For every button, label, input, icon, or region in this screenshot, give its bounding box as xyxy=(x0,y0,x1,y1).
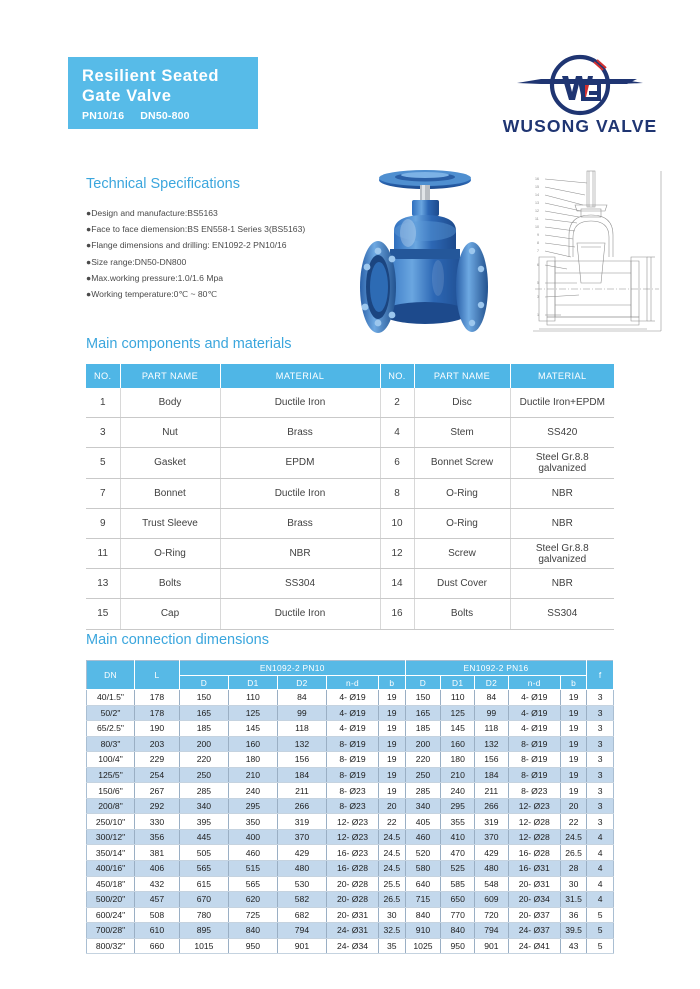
dimensions-cell: 12- Ø23 xyxy=(326,829,378,845)
dimensions-cell: 118 xyxy=(475,721,509,737)
col-pn16-b: b xyxy=(560,676,587,690)
dimensions-cell: 840 xyxy=(441,923,475,939)
dimensions-cell: 220 xyxy=(405,752,441,768)
product-title-line2: Gate Valve xyxy=(82,86,258,106)
dimensions-cell: 370 xyxy=(475,829,509,845)
components-cell: 2 xyxy=(380,388,414,418)
dimensions-cell: 794 xyxy=(475,923,509,939)
dimensions-cell: 16- Ø28 xyxy=(326,861,378,877)
dimensions-cell: 480 xyxy=(277,861,326,877)
dimensions-cell: 19 xyxy=(560,752,587,768)
dimensions-cell: 8- Ø23 xyxy=(326,798,378,814)
dimensions-cell: 370 xyxy=(277,829,326,845)
dimensions-cell: 8- Ø19 xyxy=(326,767,378,783)
dimensions-cell: 84 xyxy=(475,690,509,706)
dimensions-cell: 3 xyxy=(587,736,614,752)
table-row: 15CapDuctile Iron16BoltsSS304 xyxy=(86,599,614,629)
dimensions-cell: 180 xyxy=(441,752,475,768)
svg-text:15: 15 xyxy=(535,185,539,189)
dimensions-cell: 615 xyxy=(179,876,228,892)
dimensions-cell: 525 xyxy=(441,861,475,877)
table-row: 5GasketEPDM6Bonnet ScrewSteel Gr.8.8 gal… xyxy=(86,448,614,478)
svg-text:7: 7 xyxy=(537,249,539,253)
table-row: 600/24"50878072568220- Ø313084077072020-… xyxy=(87,907,614,923)
dimensions-cell: 640 xyxy=(405,876,441,892)
dimensions-cell: 295 xyxy=(441,798,475,814)
components-cell: 14 xyxy=(380,569,414,599)
table-row: 150/6"2672852402118- Ø23192852402118- Ø2… xyxy=(87,783,614,799)
dimensions-cell: 20- Ø28 xyxy=(326,892,378,908)
table-row: 350/14"38150546042916- Ø2324.55204704291… xyxy=(87,845,614,861)
components-cell: 5 xyxy=(86,448,120,478)
table-row: 800/32"660101595090124- Ø343510259509012… xyxy=(87,938,614,954)
dimensions-cell: 39.5 xyxy=(560,923,587,939)
dimensions-cell: 185 xyxy=(179,721,228,737)
dimensions-cell: 99 xyxy=(475,705,509,721)
dimensions-cell: 40/1.5" xyxy=(87,690,135,706)
product-image-area: 161514 131211 1098 765 31 xyxy=(338,163,678,338)
dimensions-cell: 254 xyxy=(134,767,179,783)
dimensions-cell: 180 xyxy=(228,752,277,768)
components-cell: Ductile Iron xyxy=(220,388,380,418)
dimensions-cell: 110 xyxy=(441,690,475,706)
dimensions-cell: 8- Ø19 xyxy=(508,767,560,783)
table-row: 400/16"40656551548016- Ø2824.55805254801… xyxy=(87,861,614,877)
table-row: 100/4"2292201801568- Ø19192201801568- Ø1… xyxy=(87,752,614,768)
page-header: Resilient Seated Gate Valve PN10/16DN50-… xyxy=(0,0,700,150)
components-cell: SS304 xyxy=(220,569,380,599)
dimensions-cell: 4 xyxy=(587,845,614,861)
dimensions-cell: 725 xyxy=(228,907,277,923)
col-l: L xyxy=(134,661,179,690)
dimensions-cell: 200 xyxy=(405,736,441,752)
product-title-block: Resilient Seated Gate Valve PN10/16DN50-… xyxy=(68,57,258,129)
dimensions-cell: 350/14" xyxy=(87,845,135,861)
spec-text: Max.working pressure:1.0/1.6 Mpa xyxy=(91,273,223,283)
dimensions-cell: 184 xyxy=(475,767,509,783)
components-cell: 9 xyxy=(86,508,120,538)
dimensions-cell: 25.5 xyxy=(379,876,406,892)
dimensions-cell: 26.5 xyxy=(560,845,587,861)
components-table-header-row: NO. PART NAME MATERIAL NO. PART NAME MAT… xyxy=(86,364,614,388)
dimensions-cell: 901 xyxy=(277,938,326,954)
dimensions-cell: 211 xyxy=(277,783,326,799)
dimensions-cell: 285 xyxy=(405,783,441,799)
dimensions-cell: 770 xyxy=(441,907,475,923)
dimensions-cell: 5 xyxy=(587,938,614,954)
components-cell: Disc xyxy=(414,388,510,418)
col-pn10-d1: D1 xyxy=(228,676,277,690)
dimensions-cell: 20- Ø34 xyxy=(508,892,560,908)
svg-text:11: 11 xyxy=(535,217,539,221)
col-partname-2: PART NAME xyxy=(414,364,510,388)
dimensions-cell: 156 xyxy=(277,752,326,768)
col-pn10-nd: n-d xyxy=(326,676,378,690)
dimensions-cell: 19 xyxy=(379,783,406,799)
wusong-circle-logo-icon xyxy=(515,54,645,116)
components-cell: 8 xyxy=(380,478,414,508)
dimensions-cell: 156 xyxy=(475,752,509,768)
dimensions-cell: 24- Ø37 xyxy=(508,923,560,939)
dimensions-cell: 80/3" xyxy=(87,736,135,752)
components-cell: Trust Sleeve xyxy=(120,508,220,538)
dimensions-cell: 340 xyxy=(179,798,228,814)
dimensions-cell: 266 xyxy=(277,798,326,814)
brand-name: WUSONG VALVE xyxy=(487,116,673,137)
dimensions-cell: 24.5 xyxy=(560,829,587,845)
dimensions-cell: 4- Ø19 xyxy=(508,690,560,706)
components-cell: Steel Gr.8.8 galvanized xyxy=(510,448,614,478)
dimensions-cell: 715 xyxy=(405,892,441,908)
section-heading-technical: Technical Specifications xyxy=(86,176,240,192)
dimensions-cell: 125/5" xyxy=(87,767,135,783)
dimensions-cell: 43 xyxy=(560,938,587,954)
dimensions-cell: 165 xyxy=(179,705,228,721)
dimensions-cell: 582 xyxy=(277,892,326,908)
dimensions-cell: 4 xyxy=(587,829,614,845)
dimensions-cell: 84 xyxy=(277,690,326,706)
table-row: 40/1.5"178150110844- Ø1919150110844- Ø19… xyxy=(87,690,614,706)
dimensions-cell: 548 xyxy=(475,876,509,892)
dimensions-cell: 200 xyxy=(179,736,228,752)
dimensions-cell: 600/24" xyxy=(87,907,135,923)
col-pn16-nd: n-d xyxy=(508,676,560,690)
spec-text: Working temperature:0℃ ~ 80℃ xyxy=(91,289,217,299)
components-cell: Bonnet xyxy=(120,478,220,508)
dimensions-cell: 350 xyxy=(228,814,277,830)
svg-text:5: 5 xyxy=(537,281,539,285)
dimensions-cell: 24.5 xyxy=(379,829,406,845)
dimensions-cell: 266 xyxy=(475,798,509,814)
components-cell: O-Ring xyxy=(414,508,510,538)
components-cell: Brass xyxy=(220,418,380,448)
dimensions-cell: 19 xyxy=(560,690,587,706)
dimensions-cell: 19 xyxy=(560,721,587,737)
dimensions-cell: 35 xyxy=(379,938,406,954)
dimensions-cell: 100/4" xyxy=(87,752,135,768)
components-table: NO. PART NAME MATERIAL NO. PART NAME MAT… xyxy=(86,364,614,630)
table-row: 13BoltsSS30414Dust CoverNBR xyxy=(86,569,614,599)
dimensions-cell: 16- Ø31 xyxy=(508,861,560,877)
col-pn16-d1: D1 xyxy=(441,676,475,690)
dimensions-cell: 99 xyxy=(277,705,326,721)
dimensions-cell: 8- Ø23 xyxy=(508,783,560,799)
table-row: 300/12"35644540037012- Ø2324.54604103701… xyxy=(87,829,614,845)
dimensions-cell: 4- Ø19 xyxy=(326,690,378,706)
dimensions-cell: 4- Ø19 xyxy=(508,705,560,721)
col-pn16-d2: D2 xyxy=(475,676,509,690)
components-cell: Nut xyxy=(120,418,220,448)
dimensions-cell: 800/32" xyxy=(87,938,135,954)
dimensions-cell: 340 xyxy=(405,798,441,814)
dimensions-cell: 24- Ø34 xyxy=(326,938,378,954)
table-row: 125/5"2542502101848- Ø19192502101848- Ø1… xyxy=(87,767,614,783)
dimensions-cell: 530 xyxy=(277,876,326,892)
svg-text:1: 1 xyxy=(537,313,539,317)
components-cell: 13 xyxy=(86,569,120,599)
section-heading-components: Main components and materials xyxy=(86,336,292,352)
dimensions-cell: 190 xyxy=(134,721,179,737)
dimensions-cell: 356 xyxy=(134,829,179,845)
components-cell: 12 xyxy=(380,538,414,568)
group-pn10: EN1092-2 PN10 xyxy=(179,661,405,676)
components-cell: NBR xyxy=(510,508,614,538)
dimensions-cell: 65/2.5" xyxy=(87,721,135,737)
col-partname-1: PART NAME xyxy=(120,364,220,388)
dimensions-cell: 429 xyxy=(475,845,509,861)
dimensions-cell: 250 xyxy=(405,767,441,783)
table-row: 200/8"2923402952668- Ø232034029526612- Ø… xyxy=(87,798,614,814)
dimensions-cell: 8- Ø23 xyxy=(326,783,378,799)
dimensions-cell: 184 xyxy=(277,767,326,783)
dimensions-cell: 19 xyxy=(560,783,587,799)
dimensions-cell: 22 xyxy=(560,814,587,830)
dimensions-cell: 20- Ø31 xyxy=(508,876,560,892)
group-pn16: EN1092-2 PN16 xyxy=(405,661,587,676)
table-row: 700/28"61089584079424- Ø3132.59108407942… xyxy=(87,923,614,939)
svg-text:16: 16 xyxy=(535,177,539,181)
components-cell: 3 xyxy=(86,418,120,448)
dimensions-cell: 24- Ø41 xyxy=(508,938,560,954)
dimensions-cell: 700/28" xyxy=(87,923,135,939)
components-cell: 6 xyxy=(380,448,414,478)
dimensions-cell: 3 xyxy=(587,705,614,721)
spec-text: Flange dimensions and drilling: EN1092-2… xyxy=(91,240,286,250)
dimensions-cell: 19 xyxy=(379,752,406,768)
dimensions-cell: 5 xyxy=(587,923,614,939)
col-dn: DN xyxy=(87,661,135,690)
col-material-2: MATERIAL xyxy=(510,364,614,388)
dimensions-cell: 1015 xyxy=(179,938,228,954)
dimensions-cell: 300/12" xyxy=(87,829,135,845)
dimensions-cell: 515 xyxy=(228,861,277,877)
dimensions-cell: 211 xyxy=(475,783,509,799)
components-cell: Bonnet Screw xyxy=(414,448,510,478)
dimensions-cell: 125 xyxy=(441,705,475,721)
components-cell: Ductile Iron+EPDM xyxy=(510,388,614,418)
table-row: 65/2.5"1901851451184- Ø19191851451184- Ø… xyxy=(87,721,614,737)
components-cell: EPDM xyxy=(220,448,380,478)
dimensions-cell: 20 xyxy=(379,798,406,814)
dimensions-cell: 3 xyxy=(587,721,614,737)
dimensions-cell: 457 xyxy=(134,892,179,908)
dimensions-cell: 31.5 xyxy=(560,892,587,908)
dimensions-cell: 520 xyxy=(405,845,441,861)
dimensions-cell: 780 xyxy=(179,907,228,923)
table-row: 7BonnetDuctile Iron8O-RingNBR xyxy=(86,478,614,508)
dimensions-cell: 565 xyxy=(179,861,228,877)
spec-text: Face to face diemension:BS EN558-1 Serie… xyxy=(91,224,305,234)
company-logo: WUSONG VALVE xyxy=(487,54,673,150)
dimensions-cell: 5 xyxy=(587,907,614,923)
dimensions-cell: 160 xyxy=(228,736,277,752)
dimensions-cell: 319 xyxy=(277,814,326,830)
dimensions-cell: 240 xyxy=(441,783,475,799)
dimensions-cell: 3 xyxy=(587,798,614,814)
dimensions-cell: 585 xyxy=(441,876,475,892)
dimensions-cell: 19 xyxy=(560,705,587,721)
dimensions-cell: 150 xyxy=(405,690,441,706)
table-row: 11O-RingNBR12ScrewSteel Gr.8.8 galvanize… xyxy=(86,538,614,568)
dimensions-cell: 682 xyxy=(277,907,326,923)
dimensions-cell: 285 xyxy=(179,783,228,799)
dimensions-cell: 19 xyxy=(379,705,406,721)
dimensions-table: DN L EN1092-2 PN10 EN1092-2 PN16 f D D1 … xyxy=(86,660,614,954)
dimensions-cell: 450/18" xyxy=(87,876,135,892)
table-row: 50/2"178165125994- Ø1919165125994- Ø1919… xyxy=(87,705,614,721)
dimensions-cell: 660 xyxy=(134,938,179,954)
product-subtitle: PN10/16DN50-800 xyxy=(82,110,258,122)
col-no-2: NO. xyxy=(380,364,414,388)
col-pn10-b: b xyxy=(379,676,406,690)
dimensions-cell: 160 xyxy=(441,736,475,752)
dimensions-cell: 24.5 xyxy=(379,845,406,861)
svg-text:12: 12 xyxy=(535,209,539,213)
dimensions-cell: 36 xyxy=(560,907,587,923)
dimensions-cell: 132 xyxy=(475,736,509,752)
dimensions-cell: 910 xyxy=(405,923,441,939)
dimensions-cell: 8- Ø19 xyxy=(326,736,378,752)
dimensions-cell: 580 xyxy=(405,861,441,877)
table-row: 80/3"2032001601328- Ø19192001601328- Ø19… xyxy=(87,736,614,752)
components-cell: Screw xyxy=(414,538,510,568)
dimensions-cell: 24.5 xyxy=(379,861,406,877)
dimensions-cell: 3 xyxy=(587,814,614,830)
dimensions-cell: 150 xyxy=(179,690,228,706)
dimensions-cell: 210 xyxy=(228,767,277,783)
col-no-1: NO. xyxy=(86,364,120,388)
dimensions-cell: 620 xyxy=(228,892,277,908)
components-cell: SS304 xyxy=(510,599,614,629)
product-title-line1: Resilient Seated xyxy=(82,66,258,86)
components-cell: Bolts xyxy=(414,599,510,629)
dimensions-cell: 118 xyxy=(277,721,326,737)
dimensions-cell: 480 xyxy=(475,861,509,877)
dimensions-cell: 19 xyxy=(379,736,406,752)
dimensions-cell: 840 xyxy=(228,923,277,939)
col-pn10-d2: D2 xyxy=(277,676,326,690)
dimensions-cell: 30 xyxy=(560,876,587,892)
dimensions-cell: 19 xyxy=(379,690,406,706)
dimensions-cell: 250 xyxy=(179,767,228,783)
dimensions-cell: 460 xyxy=(405,829,441,845)
dimensions-cell: 220 xyxy=(179,752,228,768)
components-cell: 16 xyxy=(380,599,414,629)
components-cell: Brass xyxy=(220,508,380,538)
dimensions-cell: 12- Ø23 xyxy=(508,798,560,814)
dimensions-cell: 19 xyxy=(379,721,406,737)
dimensions-cell: 460 xyxy=(228,845,277,861)
dimensions-cell: 950 xyxy=(228,938,277,954)
table-row: 1BodyDuctile Iron2DiscDuctile Iron+EPDM xyxy=(86,388,614,418)
section-heading-dimensions: Main connection dimensions xyxy=(86,632,269,648)
dimensions-cell: 24- Ø31 xyxy=(326,923,378,939)
components-cell: Ductile Iron xyxy=(220,478,380,508)
dimensions-cell: 330 xyxy=(134,814,179,830)
dimensions-cell: 1025 xyxy=(405,938,441,954)
dimensions-cell: 292 xyxy=(134,798,179,814)
dimensions-cell: 145 xyxy=(228,721,277,737)
dimensions-cell: 395 xyxy=(179,814,228,830)
dimensions-cell: 28 xyxy=(560,861,587,877)
dimensions-cell: 432 xyxy=(134,876,179,892)
dimensions-cell: 609 xyxy=(475,892,509,908)
dimensions-cell: 4 xyxy=(587,876,614,892)
dimensions-cell: 895 xyxy=(179,923,228,939)
dimensions-cell: 200/8" xyxy=(87,798,135,814)
components-cell: 11 xyxy=(86,538,120,568)
spec-text: Design and manufacture:BS5163 xyxy=(91,208,218,218)
dimensions-cell: 3 xyxy=(587,690,614,706)
dimensions-cell: 4 xyxy=(587,892,614,908)
pressure-rating: PN10/16 xyxy=(82,110,124,122)
table-row: 9Trust SleeveBrass10O-RingNBR xyxy=(86,508,614,538)
components-cell: O-Ring xyxy=(414,478,510,508)
dimensions-cell: 794 xyxy=(277,923,326,939)
dimensions-cell: 20- Ø31 xyxy=(326,907,378,923)
components-cell: Bolts xyxy=(120,569,220,599)
dimensions-cell: 203 xyxy=(134,736,179,752)
dimensions-cell: 267 xyxy=(134,783,179,799)
col-pn10-d: D xyxy=(179,676,228,690)
components-cell: O-Ring xyxy=(120,538,220,568)
dimensions-cell: 229 xyxy=(134,752,179,768)
col-material-1: MATERIAL xyxy=(220,364,380,388)
dimensions-cell: 19 xyxy=(560,736,587,752)
dimensions-cell: 901 xyxy=(475,938,509,954)
dimensions-cell: 110 xyxy=(228,690,277,706)
spec-text: Size range:DN50-DN800 xyxy=(91,257,186,267)
dimensions-cell: 12- Ø28 xyxy=(508,829,560,845)
dimensions-cell: 950 xyxy=(441,938,475,954)
dimensions-cell: 508 xyxy=(134,907,179,923)
dimensions-cell: 840 xyxy=(405,907,441,923)
dimensions-cell: 565 xyxy=(228,876,277,892)
svg-text:8: 8 xyxy=(537,241,539,245)
dimensions-cell: 165 xyxy=(405,705,441,721)
svg-text:10: 10 xyxy=(535,225,539,229)
dimensions-cell: 12- Ø28 xyxy=(508,814,560,830)
svg-text:14: 14 xyxy=(535,193,539,197)
svg-text:3: 3 xyxy=(537,295,539,299)
gate-valve-sectional-drawing: 161514 131211 1098 765 31 xyxy=(521,165,676,337)
components-cell: Steel Gr.8.8 galvanized xyxy=(510,538,614,568)
table-row: 500/20"45767062058220- Ø2826.57156506092… xyxy=(87,892,614,908)
table-row: 3NutBrass4StemSS420 xyxy=(86,418,614,448)
dimensions-cell: 22 xyxy=(379,814,406,830)
dimensions-cell: 240 xyxy=(228,783,277,799)
components-cell: 1 xyxy=(86,388,120,418)
dimensions-cell: 8- Ø19 xyxy=(326,752,378,768)
dimensions-cell: 319 xyxy=(475,814,509,830)
col-pn16-d: D xyxy=(405,676,441,690)
dimensions-cell: 32.5 xyxy=(379,923,406,939)
dimensions-cell: 26.5 xyxy=(379,892,406,908)
dimensions-cell: 381 xyxy=(134,845,179,861)
components-cell: 15 xyxy=(86,599,120,629)
dimensions-cell: 50/2" xyxy=(87,705,135,721)
dimensions-cell: 16- Ø28 xyxy=(508,845,560,861)
components-cell: NBR xyxy=(220,538,380,568)
col-f: f xyxy=(587,661,614,690)
dimensions-cell: 19 xyxy=(560,767,587,783)
svg-text:9: 9 xyxy=(537,233,539,237)
components-cell: SS420 xyxy=(510,418,614,448)
dimensions-cell: 505 xyxy=(179,845,228,861)
components-cell: 10 xyxy=(380,508,414,538)
svg-text:13: 13 xyxy=(535,201,539,205)
dimensions-cell: 19 xyxy=(379,767,406,783)
